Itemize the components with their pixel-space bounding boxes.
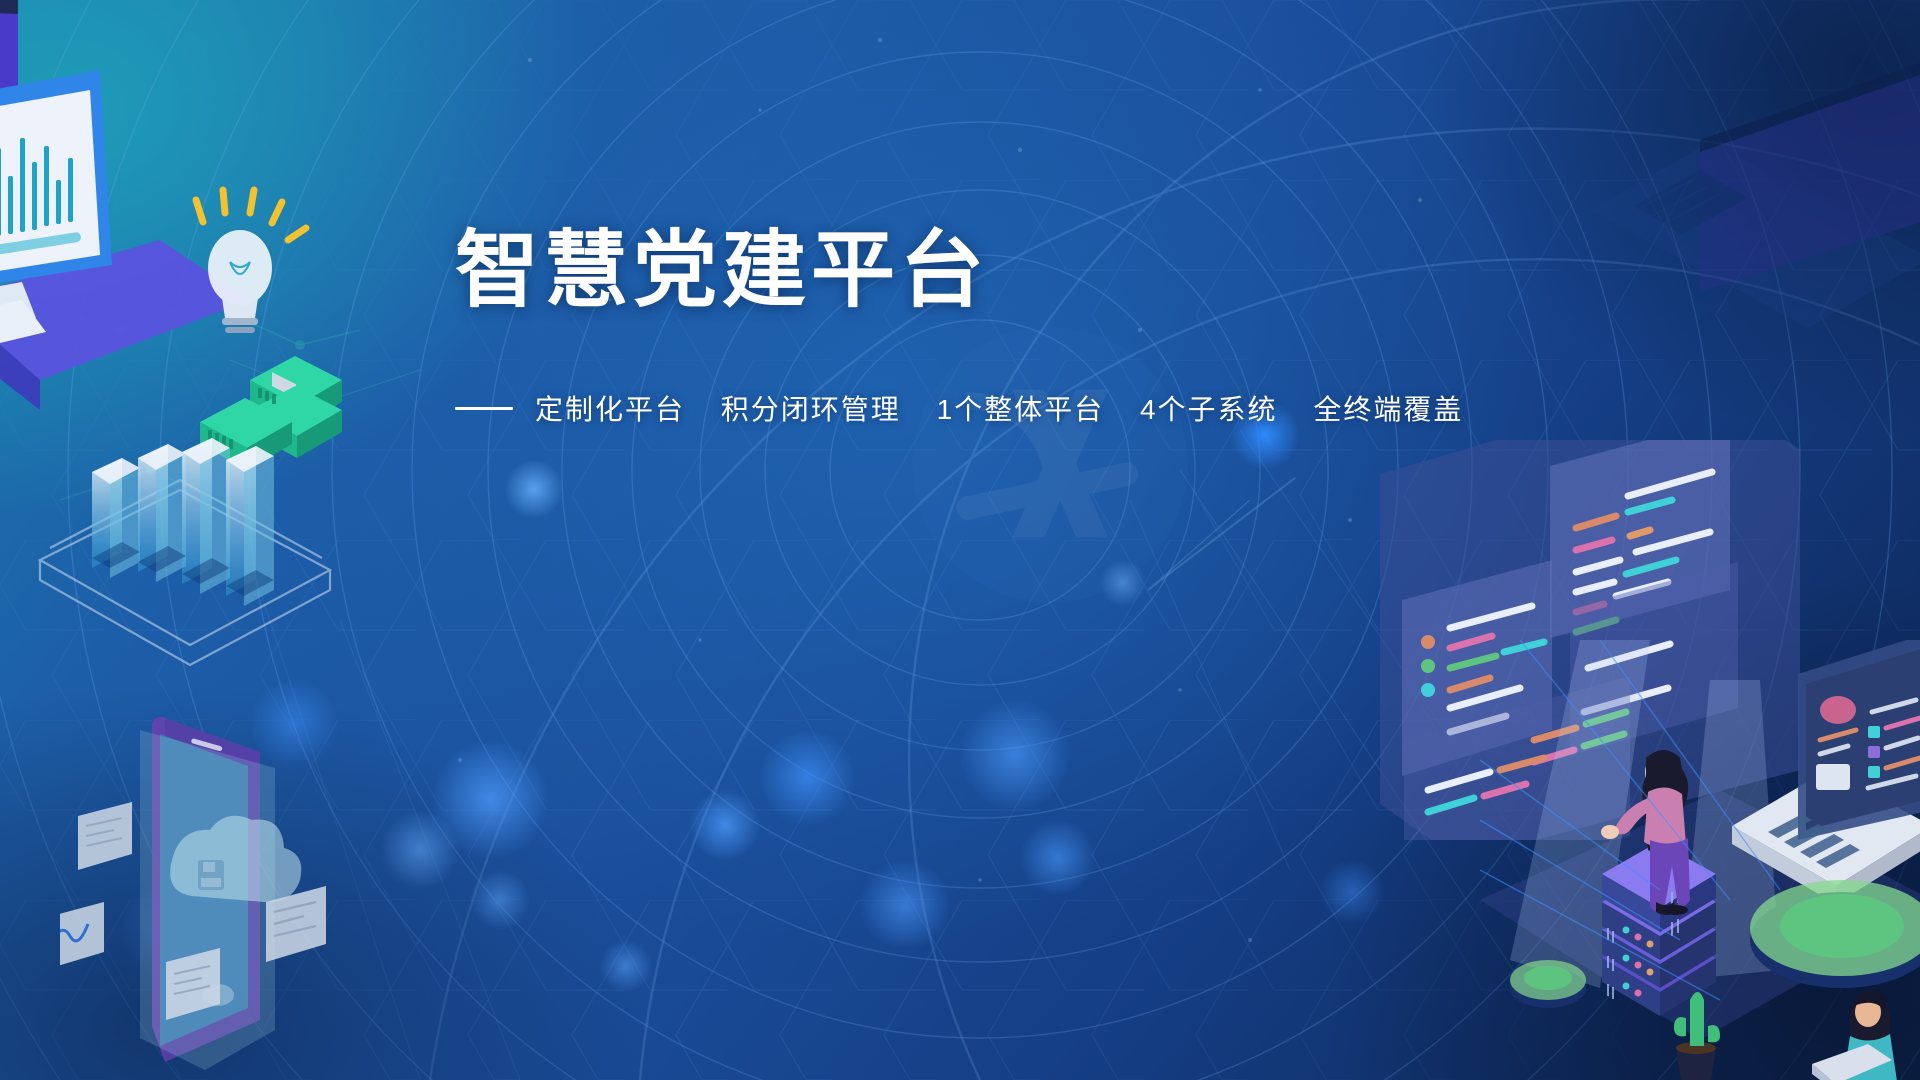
subtitle-dash-icon xyxy=(455,407,513,410)
subtitle-text: 定制化平台 积分闭环管理 1个整体平台 4个子系统 全终端覆盖 xyxy=(535,388,1463,428)
illustration-smartphone-cloud xyxy=(60,690,350,1080)
subtitle-item-1: 积分闭环管理 xyxy=(721,394,901,425)
page-title: 智慧党建平台 xyxy=(455,228,1515,312)
subtitle-item-4: 全终端覆盖 xyxy=(1313,394,1463,425)
illustration-servers-people-laptop xyxy=(1480,640,1920,1080)
illustration-laptop-dim xyxy=(1580,30,1920,370)
illustration-monitor-lightbulb-servers xyxy=(0,50,370,470)
hero-text-block: 智慧党建平台 定制化平台 积分闭环管理 1个整体平台 4个子系统 全终端覆盖 xyxy=(455,228,1515,428)
subtitle-item-0: 定制化平台 xyxy=(535,394,685,425)
hero-subtitle: 定制化平台 积分闭环管理 1个整体平台 4个子系统 全终端覆盖 xyxy=(455,388,1515,428)
subtitle-item-3: 4个子系统 xyxy=(1140,394,1278,425)
hero-banner: 智慧党建平台 定制化平台 积分闭环管理 1个整体平台 4个子系统 全终端覆盖 xyxy=(0,0,1920,1080)
subtitle-item-2: 1个整体平台 xyxy=(937,394,1105,425)
